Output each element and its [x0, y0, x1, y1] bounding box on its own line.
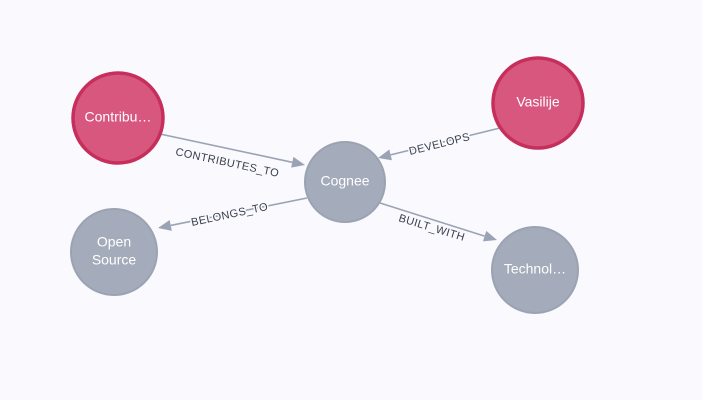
node-label-cognee: Cognee — [320, 173, 369, 189]
edge-label-contributes-to: CONTRIBUTES_TOCONTRIBUTES_TO — [174, 146, 280, 180]
graph-visualization[interactable]: CONTRIBUTES_TOCONTRIBUTES_TODEVELOPSDEVE… — [0, 0, 702, 400]
edge-label-text-develops: DEVELOPS — [408, 131, 472, 158]
edge-label-belongs-to: BELONGS_TOBELONGS_TO — [190, 201, 269, 229]
edge-arrowhead-contributes-to — [291, 157, 305, 168]
node-open-source[interactable]: OpenSource — [71, 209, 157, 295]
graph-canvas[interactable]: CONTRIBUTES_TOCONTRIBUTES_TODEVELOPSDEVE… — [0, 0, 702, 400]
node-label-vasilije: Vasilije — [516, 94, 560, 110]
node-label2-open-source: Source — [92, 252, 137, 268]
node-label-technology: Technol… — [504, 261, 566, 277]
node-label-contributor: Contribu… — [85, 109, 152, 125]
edge-label-text-contributes-to: CONTRIBUTES_TO — [174, 146, 280, 180]
edge-label-text-belongs-to: BELONGS_TO — [190, 201, 269, 229]
edge-arrowhead-develops — [378, 150, 392, 161]
node-cognee[interactable]: Cognee — [305, 142, 385, 222]
edge-arrowhead-belongs-to — [158, 220, 172, 231]
edge-label-develops: DEVELOPSDEVELOPS — [408, 131, 472, 158]
edge-arrowhead-built-with — [483, 231, 497, 241]
node-vasilije[interactable]: Vasilije — [493, 58, 583, 148]
node-contributor[interactable]: Contribu… — [73, 73, 163, 163]
node-label-open-source: Open — [97, 234, 131, 250]
edge-label-text-built-with: BUILT_WITH — [397, 212, 466, 244]
node-technology[interactable]: Technol… — [492, 227, 578, 313]
edge-label-built-with: BUILT_WITHBUILT_WITH — [397, 212, 466, 244]
nodes-group: Contribu…VasilijeCogneeOpenSourceTechnol… — [71, 58, 583, 313]
